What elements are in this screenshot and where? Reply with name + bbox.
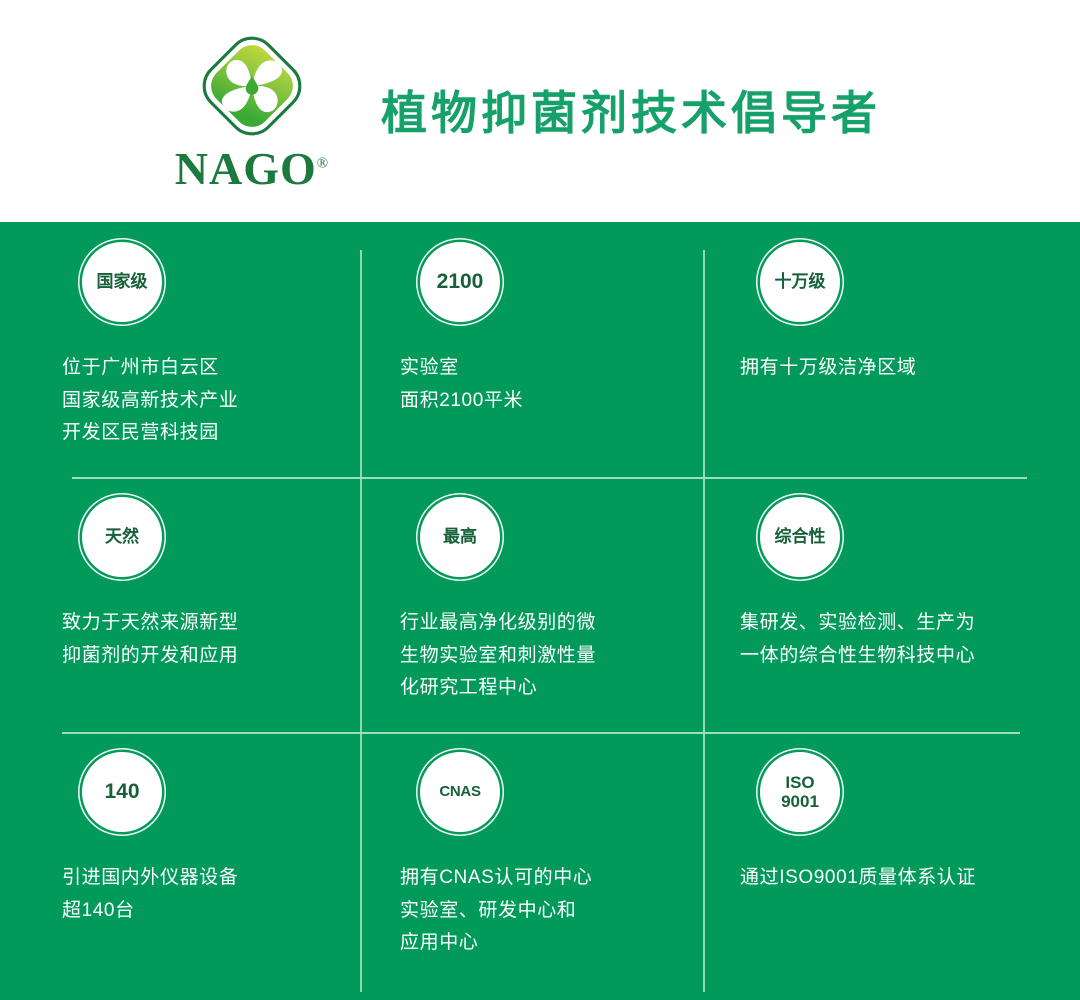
nago-flower-logo-icon — [194, 28, 310, 144]
highlights-panel: 国家级 位于广州市白云区 国家级高新技术产业 开发区民营科技园 2100 实验室… — [0, 222, 1080, 1000]
highlight-description: 拥有十万级洁净区域 — [740, 352, 1040, 385]
highlight-description: 拥有CNAS认可的中心 实验室、研发中心和 应用中心 — [400, 862, 692, 960]
highlight-badge: 140 — [82, 752, 162, 832]
highlight-description: 引进国内外仪器设备 超140台 — [62, 862, 352, 927]
header: NAGO® 植物抑菌剂技术倡导者 — [0, 0, 1080, 222]
grid-divider-vertical-left — [360, 250, 362, 992]
registered-trademark-icon: ® — [317, 156, 329, 172]
highlight-cell: 十万级 拥有十万级洁净区域 — [740, 242, 1040, 478]
highlight-cell: 最高 行业最高净化级别的微 生物实验室和刺激性量 化研究工程中心 — [400, 497, 692, 733]
highlight-badge: ISO 9001 — [760, 752, 840, 832]
highlight-badge: CNAS — [420, 752, 500, 832]
highlight-cell: 2100 实验室 面积2100平米 — [400, 242, 692, 478]
highlight-cell: 天然 致力于天然来源新型 抑菌剂的开发和应用 — [62, 497, 352, 733]
page-title: 植物抑菌剂技术倡导者 — [381, 88, 881, 139]
highlight-badge: 国家级 — [82, 242, 162, 322]
highlight-description: 通过ISO9001质量体系认证 — [740, 862, 1040, 895]
highlight-badge: 最高 — [420, 497, 500, 577]
brand-logo: NAGO® — [172, 28, 332, 196]
highlight-badge: 2100 — [420, 242, 500, 322]
highlight-description: 行业最高净化级别的微 生物实验室和刺激性量 化研究工程中心 — [400, 607, 692, 705]
highlight-cell: ISO 9001 通过ISO9001质量体系认证 — [740, 752, 1040, 988]
highlight-description: 致力于天然来源新型 抑菌剂的开发和应用 — [62, 607, 352, 672]
highlight-cell: CNAS 拥有CNAS认可的中心 实验室、研发中心和 应用中心 — [400, 752, 692, 988]
highlight-description: 集研发、实验检测、生产为 一体的综合性生物科技中心 — [740, 607, 1040, 672]
logo-wordmark: NAGO® — [175, 146, 329, 192]
grid-divider-vertical-right — [703, 250, 705, 992]
highlight-cell: 140 引进国内外仪器设备 超140台 — [62, 752, 352, 988]
highlight-cell: 国家级 位于广州市白云区 国家级高新技术产业 开发区民营科技园 — [62, 242, 352, 478]
page-root: NAGO® 植物抑菌剂技术倡导者 国家级 位于广州市白云区 国家级高新技术产业 … — [0, 0, 1080, 1000]
logo-wordmark-text: NAGO — [175, 143, 317, 194]
highlight-description: 实验室 面积2100平米 — [400, 352, 692, 417]
highlight-badge: 天然 — [82, 497, 162, 577]
highlight-badge: 十万级 — [760, 242, 840, 322]
highlight-badge: 综合性 — [760, 497, 840, 577]
highlights-grid: 国家级 位于广州市白云区 国家级高新技术产业 开发区民营科技园 2100 实验室… — [0, 222, 1080, 1000]
highlight-cell: 综合性 集研发、实验检测、生产为 一体的综合性生物科技中心 — [740, 497, 1040, 733]
highlight-description: 位于广州市白云区 国家级高新技术产业 开发区民营科技园 — [62, 352, 352, 450]
